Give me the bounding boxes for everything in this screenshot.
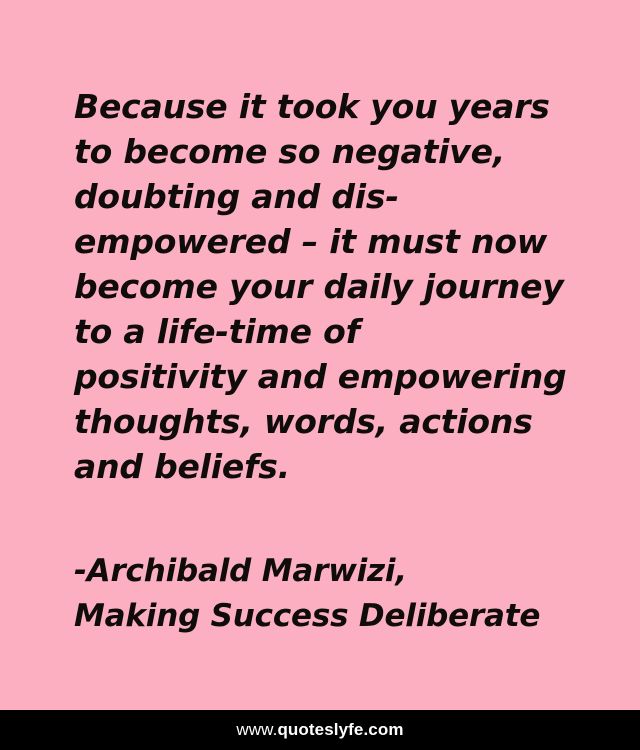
quote-line: doubting and dis-: [74, 174, 584, 219]
quote-line: thoughts, words, actions: [74, 399, 584, 444]
website-url-prefix: www.: [236, 720, 277, 740]
website-url-domain: quoteslyfe.com: [277, 720, 403, 740]
attribution-author: -Archibald Marwizi,: [74, 549, 584, 594]
quote-line: Because it took you years: [74, 84, 584, 129]
website-link[interactable]: www.quoteslyfe.com: [236, 720, 403, 740]
quote-line: to a life-time of: [74, 309, 584, 354]
quote-line: become your daily journey: [74, 264, 584, 309]
quote-card: Because it took you years to become so n…: [0, 0, 640, 750]
footer-bar: www.quoteslyfe.com: [0, 710, 640, 750]
quote-line: and beliefs.: [74, 444, 584, 489]
attribution-block: -Archibald Marwizi, Making Success Delib…: [74, 549, 584, 639]
quote-line: empowered – it must now: [74, 219, 584, 264]
quote-line: to become so negative,: [74, 129, 584, 174]
attribution-source: Making Success Deliberate: [74, 594, 584, 639]
quote-text-block: Because it took you years to become so n…: [74, 84, 584, 639]
quote-line: positivity and empowering: [74, 354, 584, 399]
